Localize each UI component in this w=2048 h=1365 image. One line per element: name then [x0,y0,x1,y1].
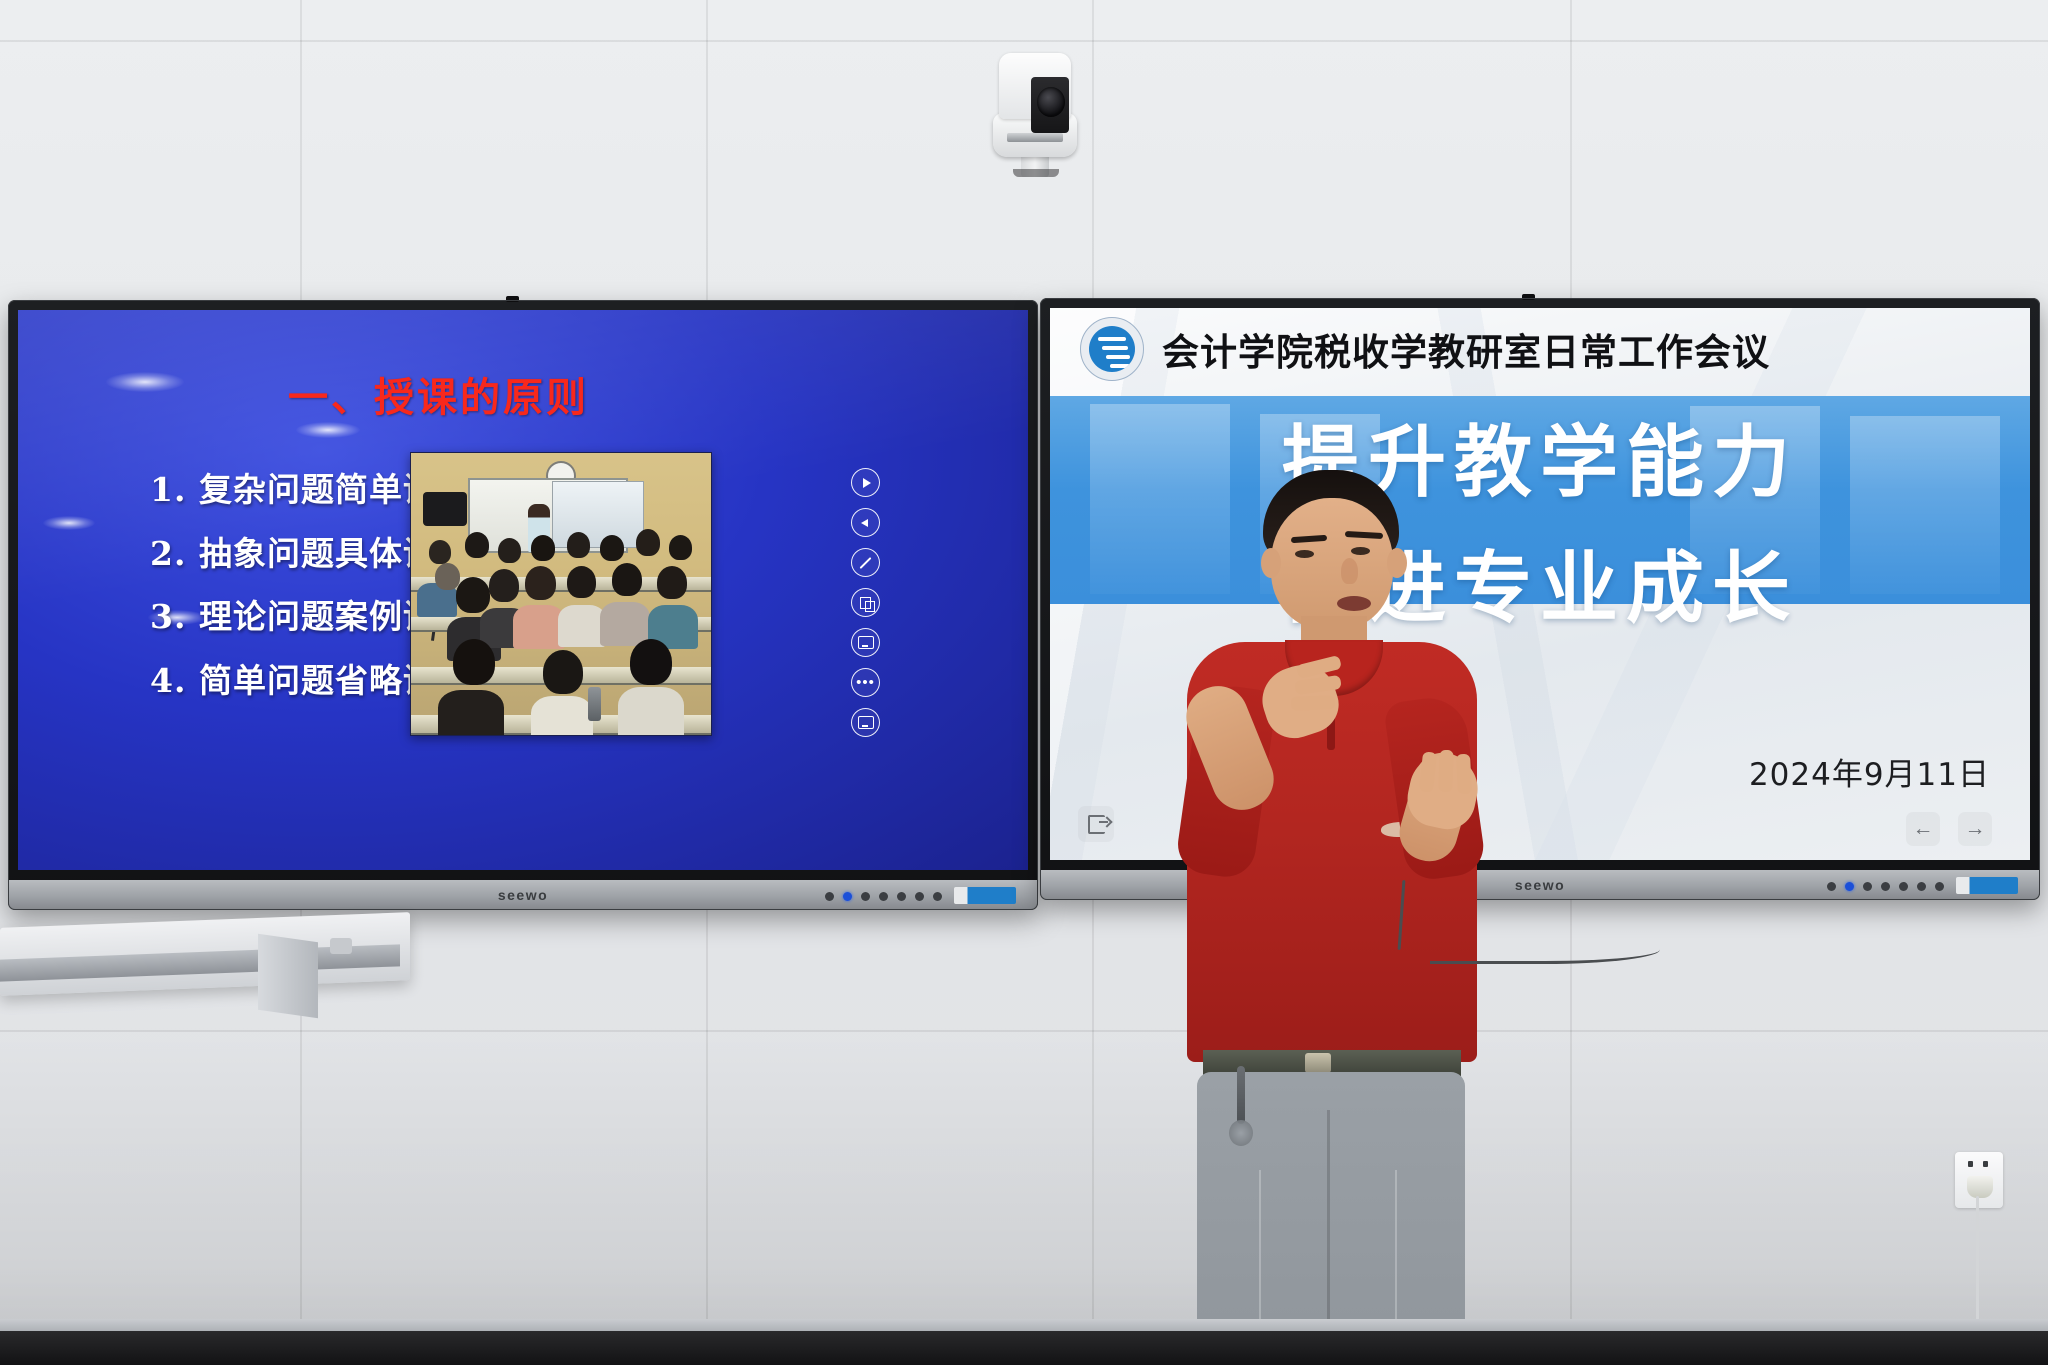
floor [0,1331,2048,1365]
presenter-forearm [1393,746,1479,868]
presenter-collar [1285,640,1383,696]
presenter-keys [1229,1120,1253,1146]
photo-student [600,602,650,646]
panel-sensor [506,296,519,302]
presenter-hair [1263,470,1399,562]
wall-shading [0,1035,2048,1365]
photo-student [567,532,590,558]
screen-glare [43,516,95,530]
photo-student [636,529,660,556]
screen-glare [106,372,184,392]
previous-icon[interactable] [851,508,880,537]
classroom-photo [410,452,712,736]
photo-student [417,583,457,617]
photo-student [669,535,692,560]
prev-slide-button[interactable]: ← [1906,812,1940,846]
photo-student [612,563,642,596]
panel-sensor [1522,294,1535,300]
photo-student [531,535,555,561]
camera-head [999,53,1071,119]
presenter-hand [1402,750,1483,835]
presenter-arm [1174,681,1278,880]
presenter-trouser-crease [1259,1170,1261,1365]
photo-student [657,566,687,599]
presentation-date: 2024年9月11日 [1749,749,1990,794]
photo-whiteboard [468,478,628,553]
list-item: 4. 简单问题省略讲 [150,661,437,701]
right-slide-header: 会计学院税收学教研室日常工作会议 [1050,308,2030,390]
screen-off-icon[interactable] [851,708,880,737]
presenter-eye [1295,550,1314,558]
photo-desk-row [410,617,712,632]
presenter-trousers [1197,1072,1465,1365]
left-display-screen[interactable]: 一、授课的原则 1. 复杂问题简单讲 2. 抽象问题具体讲 3. 理论问题案例讲… [18,310,1028,870]
presenter-hand [1254,656,1346,745]
presenter-ear [1261,548,1281,578]
power-outlet [1955,1152,2003,1208]
photo-student [489,569,519,602]
presenter-finger [1294,675,1342,695]
camera-indicator-strip [1007,133,1063,142]
photo-student-front [543,650,583,694]
presenter-neck [1301,616,1367,658]
photo-wall [411,453,711,735]
presenter-placket [1327,676,1335,750]
presenter-eye [1351,547,1370,555]
presenter-finger [1419,751,1437,792]
wall-shelf-edge [0,944,400,981]
play-icon[interactable] [851,468,880,497]
camera-mount [1021,147,1049,177]
left-slide-bullet-list: 1. 复杂问题简单讲 2. 抽象问题具体讲 3. 理论问题案例讲 4. 简单问题… [150,470,437,724]
slide-navigation[interactable]: ← → [1906,812,1992,846]
right-display-hardware-buttons[interactable] [1827,882,1944,891]
left-display-panel[interactable]: 一、授课的原则 1. 复杂问题简单讲 2. 抽象问题具体讲 3. 理论问题案例讲… [8,300,1038,910]
camera-lens [1037,87,1065,117]
presenter-nose [1341,558,1358,584]
presenter-ear [1387,548,1407,578]
photo-student [465,532,489,558]
photo-student [525,566,556,600]
presenter-finger [1456,754,1472,795]
exit-icon[interactable] [1078,806,1114,842]
photo-desk-row [410,667,712,685]
power-cable [1976,1196,1979,1322]
ptz-camera [985,35,1085,175]
photo-student [558,605,606,647]
right-display-label-sticker [1956,877,2018,894]
photo-student-front [453,639,495,685]
screenshot-root: 一、授课的原则 1. 复杂问题简单讲 2. 抽象问题具体讲 3. 理论问题案例讲… [0,0,2048,1365]
presenter-forearm [1177,677,1282,819]
next-slide-button[interactable]: → [1958,812,1992,846]
photo-student-front [438,690,504,736]
wall-shelf [0,912,410,996]
right-display-brand: seewo [1515,877,1565,893]
photo-student-front [618,687,684,736]
photo-student [480,608,528,648]
camera-lens-housing [1031,77,1069,133]
presenter-face [1271,498,1393,630]
photo-video-camera [423,492,467,526]
photo-student [456,577,490,613]
more-icon[interactable]: ••• [851,668,880,697]
baseboard [0,1319,2048,1331]
presenter-brow [1345,531,1383,539]
presenter-shirt [1187,642,1477,1062]
screen-glare [296,422,360,438]
photo-student-orange [513,605,565,649]
right-slide-header-text: 会计学院税收学教研室日常工作会议 [1162,322,1770,376]
photo-student [648,605,698,649]
photo-clock [546,461,576,491]
photo-student [429,540,451,564]
presenter-finger [1296,655,1342,679]
presenter-trouser-seam [1327,1110,1330,1365]
wall-shelf-bracket [258,934,318,1018]
screen-icon[interactable] [851,628,880,657]
presenter-finger [1291,695,1335,711]
left-display-hardware-buttons[interactable] [825,892,942,901]
power-plug [1967,1176,1993,1198]
photo-tripod-leg [439,583,452,641]
photo-lecturer [528,504,550,552]
left-display-label-sticker [954,887,1016,904]
photo-student-front [531,696,593,736]
presenter-finger [1438,750,1453,792]
pen-icon[interactable] [851,548,880,577]
presenter-mouth [1337,596,1371,611]
presenter [1145,470,1505,1365]
photo-student [435,563,460,590]
wall-seam [0,1030,2048,1032]
left-display-bezel: seewo [8,880,1038,910]
camera-base [1013,169,1059,177]
presenter-lanyard [1237,1066,1245,1124]
photo-student [600,535,624,561]
list-item: 1. 复杂问题简单讲 [150,470,437,510]
photo-bottle [588,687,601,721]
wall-shelf-knob [330,938,352,954]
presenter-arm [1383,693,1487,882]
photo-student [567,566,596,598]
presenter-brow [1291,535,1327,543]
copy-icon[interactable] [851,588,880,617]
list-item: 3. 理论问题案例讲 [150,597,437,637]
presenter-belt [1203,1050,1461,1076]
photo-desk-row [410,577,712,592]
camera-body [993,113,1077,157]
left-screen-toolbar[interactable]: ••• [851,468,880,737]
presenter-belt-buckle [1305,1053,1331,1073]
presenter-trouser-crease [1395,1170,1397,1365]
left-slide-title: 一、授课的原则 [288,365,589,423]
presenter-logo-icon [1381,822,1421,837]
photo-student-front [630,639,672,685]
university-logo-icon [1080,317,1144,381]
list-item: 2. 抽象问题具体讲 [150,534,437,574]
photo-student [498,538,521,563]
photo-tripod-leg [431,583,442,641]
left-display-brand: seewo [498,887,548,903]
photo-projection-screen [552,481,644,548]
photo-desk-row [410,715,712,735]
photo-student [447,617,501,661]
